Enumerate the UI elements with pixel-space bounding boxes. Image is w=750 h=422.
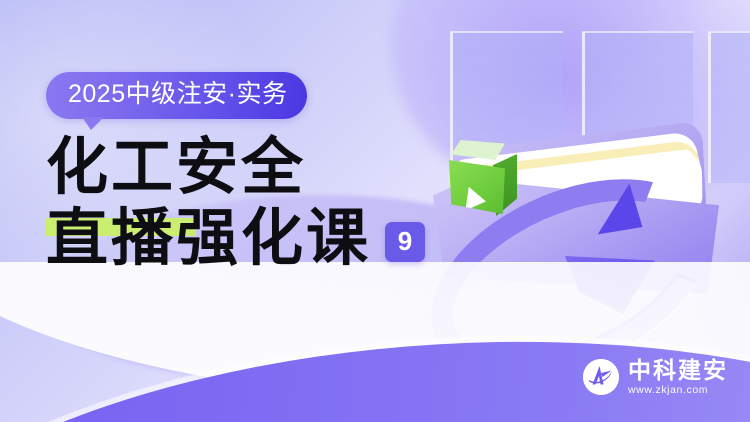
mountain-arrow-icon	[583, 359, 619, 395]
text-block: 2025中级注安·实务 化工安全 直播强化课 9	[46, 72, 466, 272]
logo-website-url: www.zkjan.com	[628, 384, 728, 396]
bottom-wave	[0, 262, 750, 422]
title-line-1-text: 化工安全	[46, 134, 306, 202]
title-line-1: 化工安全	[46, 137, 466, 200]
brand-logo: 中科建安 www.zkjan.com	[583, 358, 728, 396]
course-poster: 2025中级注安·实务 化工安全 直播强化课 9 中科建安 www.zkjan.…	[0, 0, 750, 422]
title-line-2-text: 直播强化课	[46, 208, 371, 271]
play-triangle-icon	[465, 187, 487, 213]
course-category-badge: 2025中级注安·实务	[46, 72, 307, 119]
logo-text: 中科建安 www.zkjan.com	[628, 358, 728, 396]
logo-company-name: 中科建安	[628, 358, 728, 382]
episode-number-badge: 9	[385, 222, 425, 262]
title-line-2: 直播强化课 9	[46, 208, 466, 271]
page-title: 化工安全 直播强化课 9	[46, 137, 466, 271]
